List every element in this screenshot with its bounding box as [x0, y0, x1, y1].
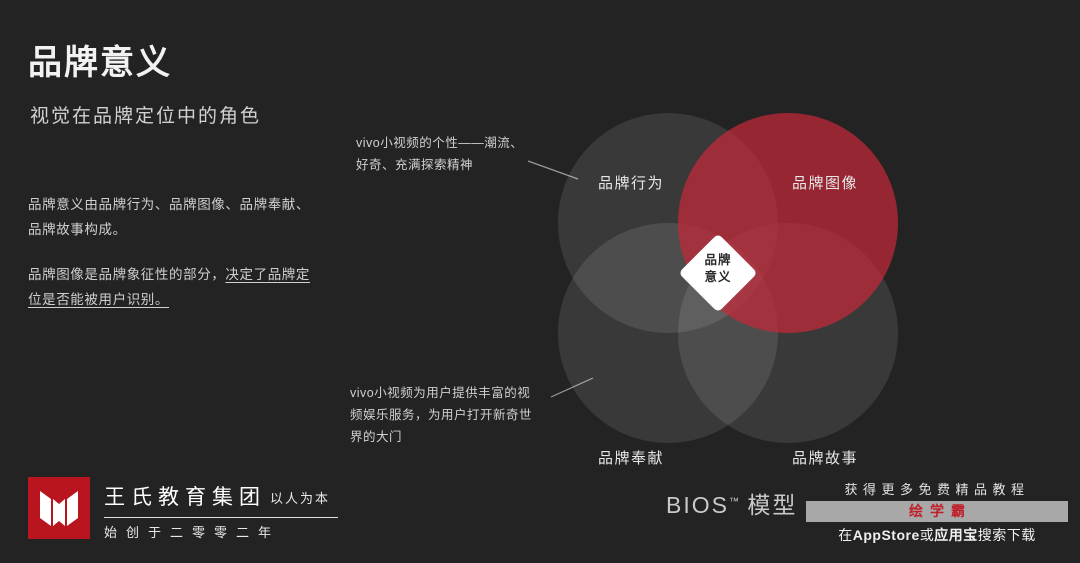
promo-store-appstore: AppStore — [853, 527, 920, 543]
venn-core-label-line1: 品牌 — [688, 252, 748, 269]
annotation-bottom: vivo小视频为用户提供丰富的视频娱乐服务，为用户打开新奇世界的大门 — [350, 382, 540, 448]
venn-label-brand-offering: 品牌奉献 — [598, 447, 664, 468]
promo-headline: 获得更多免费精品教程 — [806, 479, 1068, 498]
venn-label-brand-story: 品牌故事 — [792, 447, 858, 468]
promo-suffix: 搜索下载 — [978, 527, 1036, 543]
venn-diagram: 品牌 意义 品牌行为 品牌图像 品牌奉献 品牌故事 — [540, 95, 920, 460]
brand-logo: 王氏教育集团 以人为本 始创于二零零二年 — [28, 477, 338, 543]
body-paragraph-1: 品牌意义由品牌行为、品牌图像、品牌奉献、品牌故事构成。 — [28, 192, 318, 242]
logo-divider — [104, 517, 338, 518]
annotation-top: vivo小视频的个性——潮流、好奇、充满探索精神 — [356, 132, 531, 176]
model-trademark-icon: ™ — [729, 496, 739, 507]
venn-core-label: 品牌 意义 — [688, 252, 748, 286]
venn-label-brand-behavior: 品牌行为 — [598, 172, 664, 193]
venn-core-label-line2: 意义 — [688, 269, 748, 286]
body-copy: 品牌意义由品牌行为、品牌图像、品牌奉献、品牌故事构成。 品牌图像是品牌象征性的部… — [28, 192, 318, 312]
promo-app-name[interactable]: 绘学霸 — [806, 501, 1068, 522]
promo-block: 获得更多免费精品教程 绘学霸 在AppStore或应用宝搜索下载 — [806, 479, 1068, 545]
page-title: 品牌意义 — [28, 44, 172, 83]
body-paragraph-2: 品牌图像是品牌象征性的部分，决定了品牌定位是否能被用户识别。 — [28, 262, 318, 312]
logo-mark-icon — [28, 477, 90, 539]
slide-canvas: 品牌意义 视觉在品牌定位中的角色 品牌意义由品牌行为、品牌图像、品牌奉献、品牌故… — [0, 0, 1080, 563]
body-paragraph-2-plain: 品牌图像是品牌象征性的部分， — [28, 267, 225, 282]
promo-download-hint: 在AppStore或应用宝搜索下载 — [806, 525, 1068, 545]
venn-label-brand-image: 品牌图像 — [792, 172, 858, 193]
promo-prefix: 在 — [838, 527, 853, 543]
logo-since: 始创于二零零二年 — [104, 522, 338, 541]
promo-store-yingyongbao: 应用宝 — [934, 527, 978, 543]
logo-name: 王氏教育集团 — [104, 481, 266, 511]
promo-mid: 或 — [920, 527, 935, 543]
page-subtitle: 视觉在品牌定位中的角色 — [30, 101, 261, 128]
model-name: BIOS — [666, 492, 729, 518]
model-suffix: 模型 — [747, 492, 797, 518]
logo-w-glyph-icon — [28, 477, 90, 539]
logo-slogan: 以人为本 — [270, 488, 330, 507]
model-label: BIOS™ 模型 — [666, 486, 797, 520]
